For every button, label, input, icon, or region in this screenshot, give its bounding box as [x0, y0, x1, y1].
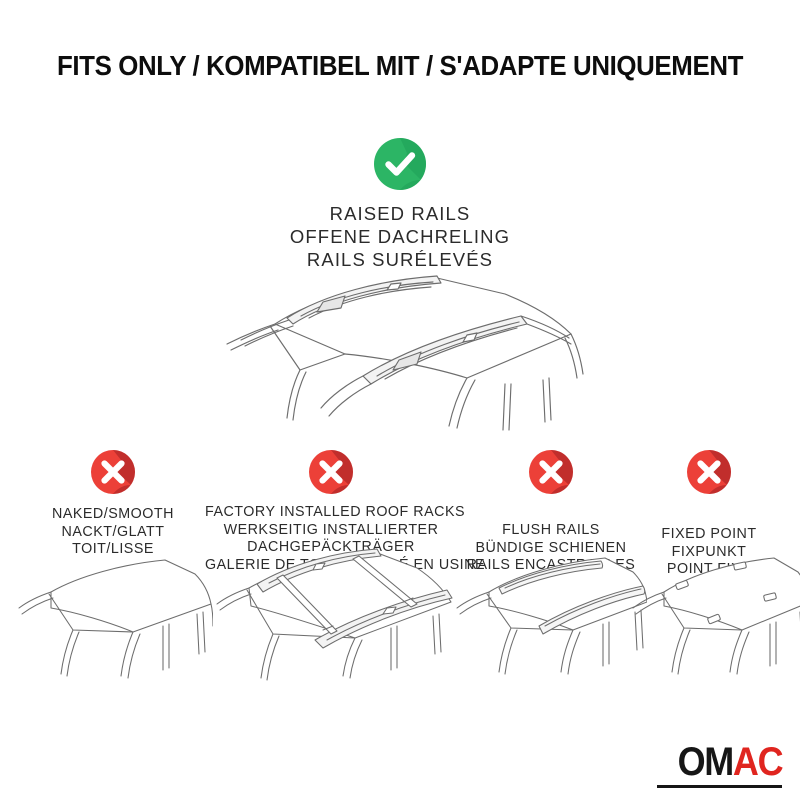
incompatible-label-de-1: WERKSEITIG INSTALLIERTER	[205, 522, 457, 540]
omac-logo: OMAC	[677, 742, 782, 782]
incompatible-option-naked-smooth: NAKED/SMOOTH NACKT/GLATT TOIT/LISSE	[13, 450, 213, 559]
compatible-section: RAISED RAILS OFFENE DACHRELING RAILS SUR…	[200, 138, 600, 271]
incompatible-label-en: FLUSH RAILS	[455, 522, 647, 540]
car-roof-with-raised-rails-illustration	[205, 272, 605, 447]
check-circle-icon	[374, 138, 426, 190]
car-roof-with-flush-rails-illustration	[455, 550, 647, 680]
compatible-label-de: OFFENE DACHRELING	[200, 225, 600, 248]
x-circle-icon	[529, 450, 573, 494]
incompatible-option-fixed-point: FIXED POINT FIXPUNKT POINT FIXE	[630, 450, 788, 579]
omac-logo-dark: OM	[677, 740, 732, 784]
incompatible-label-de: NACKT/GLATT	[13, 524, 213, 542]
incompatible-label-en: FIXED POINT	[630, 526, 788, 544]
car-roof-naked-smooth-illustration	[13, 554, 213, 684]
x-circle-icon	[687, 450, 731, 494]
incompatible-option-factory-roof-racks: FACTORY INSTALLED ROOF RACKS WERKSEITIG …	[205, 450, 457, 574]
incompatible-labels: NAKED/SMOOTH NACKT/GLATT TOIT/LISSE	[13, 506, 213, 559]
incompatible-label-en: FACTORY INSTALLED ROOF RACKS	[205, 504, 457, 522]
compatible-labels: RAISED RAILS OFFENE DACHRELING RAILS SUR…	[200, 202, 600, 271]
compatible-label-en: RAISED RAILS	[200, 202, 600, 225]
omac-logo-underline	[657, 785, 782, 788]
car-roof-with-fixed-points-illustration	[630, 550, 788, 680]
x-circle-icon	[309, 450, 353, 494]
compatible-label-fr: RAILS SURÉLEVÉS	[200, 248, 600, 271]
incompatible-label-en: NAKED/SMOOTH	[13, 506, 213, 524]
page-title: FITS ONLY / KOMPATIBEL MIT / S'ADAPTE UN…	[24, 50, 776, 82]
incompatible-option-flush-rails: FLUSH RAILS BÜNDIGE SCHIENEN RAILS ENCAS…	[455, 450, 647, 575]
car-roof-with-factory-crossbars-illustration	[205, 542, 457, 672]
x-circle-icon	[91, 450, 135, 494]
omac-logo-red: AC	[733, 740, 782, 784]
